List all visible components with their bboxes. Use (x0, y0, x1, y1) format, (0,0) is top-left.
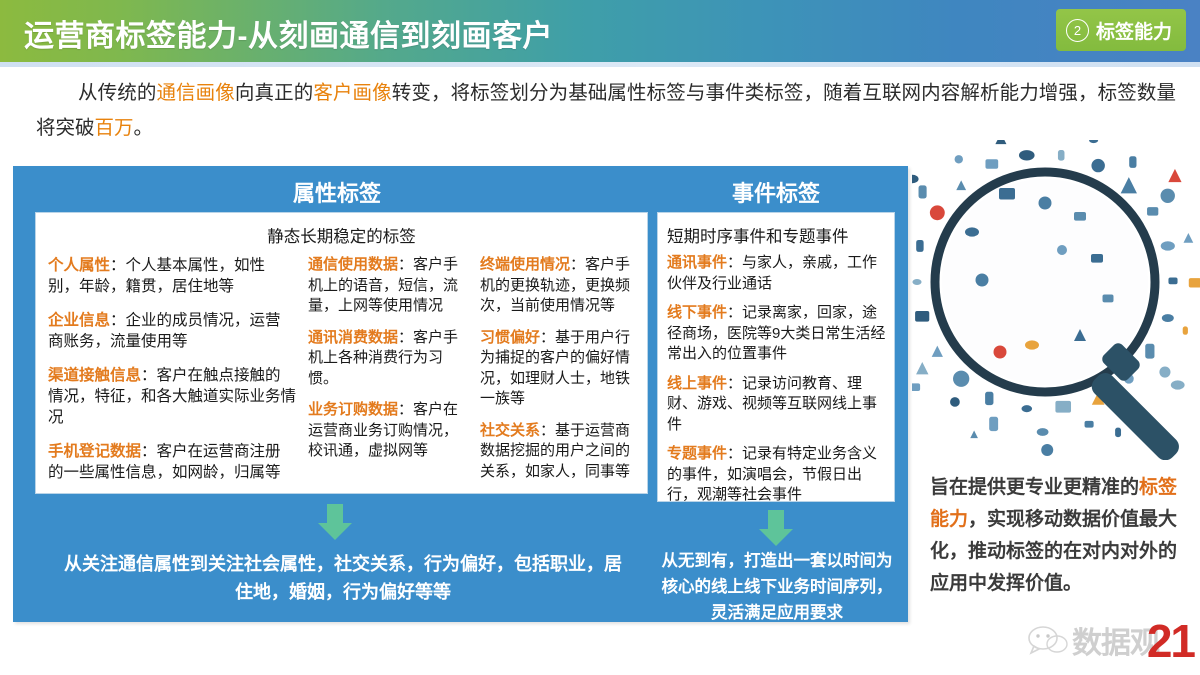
decorative-icon (1183, 326, 1188, 334)
tag-item: 通讯消费数据：客户手机上各种消费行为习惯。 (308, 328, 468, 390)
right-text-2: ，实现移动数据价值最大化，推动标签的在对内对外的应用中发挥价值。 (930, 509, 1177, 594)
intro-highlight-2: 客户画像 (313, 82, 391, 104)
tag-item-term: 通信使用数据 (308, 256, 398, 273)
tag-item-term: 业务订购数据 (308, 401, 398, 418)
attribute-column-1: 个人属性：个人基本属性，如性别，年龄，籍贯，居住地等企业信息：企业的成员情况，运… (36, 255, 302, 493)
tag-item: 习惯偏好：基于用户行为捕捉的客户的偏好情况，如理财人士，地铁一族等 (480, 328, 643, 410)
decorative-icon (1161, 241, 1175, 250)
decorative-icon (1055, 401, 1071, 413)
decorative-icon (953, 371, 969, 387)
decorative-icon (916, 362, 928, 374)
tag-item-term: 个人属性 (48, 257, 110, 274)
right-summary-text: 旨在提供更专业更精准的标签能力，实现移动数据价值最大化，推动标签的在对内对外的应… (930, 472, 1192, 600)
wechat-bubble-icon (1028, 624, 1068, 656)
tag-item-text: 习惯偏好：基于用户行为捕捉的客户的偏好情况，如理财人士，地铁一族等 (480, 328, 643, 410)
tag-item: 个人属性：个人基本属性，如性别，年龄，籍贯，居住地等 (48, 255, 296, 297)
decorative-icon (970, 430, 978, 438)
tag-item: 手机登记数据：客户在运营商注册的一些属性信息，如网龄，归属等 (48, 441, 296, 483)
intro-text-2: 向真正的 (235, 82, 313, 104)
tag-item-term: 习惯偏好 (480, 329, 540, 346)
decorative-icon (1074, 212, 1086, 221)
down-arrow-icon (759, 510, 793, 546)
decorative-icon (916, 240, 923, 252)
attribute-tags-box: 静态长期稳定的标签 个人属性：个人基本属性，如性别，年龄，籍贯，居住地等企业信息… (35, 212, 648, 494)
decorative-icon (915, 311, 929, 322)
attribute-column-2: 通信使用数据：客户手机上的语音，短信，流量，上网等使用情况通讯消费数据：客户手机… (302, 255, 474, 493)
decorative-icon (912, 279, 921, 285)
decorative-icon (995, 140, 1006, 144)
decorative-icon (932, 346, 943, 357)
tag-item-text: 个人属性：个人基本属性，如性别，年龄，籍贯，居住地等 (48, 255, 296, 297)
decorative-icon (1103, 295, 1114, 303)
decorative-icon (989, 417, 998, 431)
decorative-icon (950, 397, 960, 407)
tag-item-term: 通讯事件 (667, 254, 727, 271)
decorative-icon (1161, 189, 1175, 203)
watermark-number: 21 (1147, 614, 1194, 668)
decorative-icon (1037, 428, 1049, 436)
header-underline (0, 62, 1200, 67)
decorative-icon (919, 185, 927, 198)
decorative-icon (1145, 344, 1154, 359)
attribute-tags-heading: 属性标签 (26, 176, 648, 208)
decorative-icon (1162, 314, 1174, 322)
decorative-icon (965, 227, 979, 236)
decorative-icon (985, 392, 993, 405)
decorative-icon (912, 383, 920, 391)
tag-item-term: 终端使用情况 (480, 256, 570, 273)
section-badge-label: 标签能力 (1096, 17, 1172, 44)
event-subtitle: 短期时序事件和专题事件 (658, 213, 894, 247)
tag-item-text: 手机登记数据：客户在运营商注册的一些属性信息，如网龄，归属等 (48, 441, 296, 483)
intro-paragraph: 从传统的通信画像向真正的客户画像转变，将标签划分为基础属性标签与事件类标签，随着… (36, 76, 1176, 146)
tag-item-term: 线上事件 (667, 375, 727, 392)
tag-item: 社交关系：基于运营商数据挖掘的用户之间的关系，如家人，同事等 (480, 421, 643, 483)
decorative-icon (1091, 159, 1104, 172)
tag-item-term: 通讯消费数据 (308, 329, 398, 346)
tag-item: 线下事件：记录离家，回家，途径商场，医院等9大类日常生活经常出入的位置事件 (667, 303, 889, 365)
right-text-1: 旨在提供更专业更精准的 (930, 477, 1139, 498)
event-tags-box: 短期时序事件和专题事件 通讯事件：与家人，亲戚，工作伙伴及行业通话线下事件：记录… (657, 212, 895, 502)
decorative-icon (1147, 207, 1158, 215)
event-conclusion: 从无到有，打造出一套以时间为核心的线上线下业务时间序列，灵活满足应用要求 (659, 548, 895, 626)
intro-text-1: 从传统的 (78, 82, 156, 104)
tag-item-text: 终端使用情况：客户手机的更换轨迹，更换频次，当前使用情况等 (480, 255, 643, 317)
decorative-icon (1115, 428, 1121, 438)
decorative-icon (1091, 254, 1103, 263)
intro-text-4: 。 (134, 117, 154, 139)
decorative-icon (994, 346, 1007, 359)
slide-header: 运营商标签能力-从刻画通信到刻画客户 2 标签能力 (0, 0, 1200, 62)
down-arrow-icon (318, 504, 352, 540)
tag-item-term: 渠道接触信息 (48, 367, 141, 384)
tag-item-text: 通讯消费数据：客户手机上各种消费行为习惯。 (308, 328, 468, 390)
decorative-icon (1121, 177, 1137, 193)
tag-item: 专题事件：记录有特定业务含义的事件，如演唱会，节假日出行，观潮等社会事件 (667, 444, 889, 506)
tag-item-text: 线下事件：记录离家，回家，途径商场，医院等9大类日常生活经常出入的位置事件 (667, 303, 889, 365)
tag-item: 企业信息：企业的成员情况，运营商账务，流量使用等 (48, 310, 296, 352)
tag-item-term: 线下事件 (667, 304, 727, 321)
tag-item: 线上事件：记录访问教育、理财、游戏、视频等互联网线上事件 (667, 374, 889, 436)
main-blue-panel: 属性标签 事件标签 静态长期稳定的标签 个人属性：个人基本属性，如性别，年龄，籍… (13, 166, 908, 622)
decorative-icon (930, 205, 945, 220)
decorative-icon (985, 159, 998, 169)
slide-root: 运营商标签能力-从刻画通信到刻画客户 2 标签能力 从传统的通信画像向真正的客户… (0, 0, 1200, 675)
decorative-icon (1085, 421, 1094, 428)
decorative-icon (1025, 340, 1039, 349)
intro-highlight-3: 百万 (95, 117, 134, 139)
tag-item: 通讯事件：与家人，亲戚，工作伙伴及行业通话 (667, 253, 889, 294)
decorative-icon (1058, 150, 1065, 161)
section-badge: 2 标签能力 (1056, 9, 1186, 51)
tag-item-term: 企业信息 (48, 312, 110, 329)
decorative-icon (1168, 169, 1181, 182)
decorative-icon (1089, 140, 1098, 143)
decorative-icon (956, 180, 966, 190)
decorative-icon (1171, 380, 1185, 389)
attribute-conclusion: 从关注通信属性到关注社会属性，社交关系，行为偏好，包括职业，居住地，婚姻，行为偏… (58, 550, 628, 606)
decorative-icon (1022, 405, 1033, 412)
decorative-icon (1168, 277, 1177, 284)
decorative-icon (976, 274, 989, 287)
tag-item-text: 业务订购数据：客户在运营商业务订购情况，校讯通，虚拟网等 (308, 400, 468, 462)
tag-item: 业务订购数据：客户在运营商业务订购情况，校讯通，虚拟网等 (308, 400, 468, 462)
event-items-list: 通讯事件：与家人，亲戚，工作伙伴及行业通话线下事件：记录离家，回家，途径商场，医… (667, 253, 889, 515)
tag-item-text: 渠道接触信息：客户在触点接触的情况，特征，和各大触道实际业务情况 (48, 365, 296, 428)
magnifier-illustration-svg (912, 140, 1200, 460)
decorative-icon (955, 155, 963, 163)
tag-item-term: 手机登记数据 (48, 443, 141, 460)
decorative-icon (1129, 156, 1136, 168)
event-tags-heading: 事件标签 (657, 176, 895, 208)
watermark: 数据观 21 (1028, 612, 1200, 668)
tag-item: 终端使用情况：客户手机的更换轨迹，更换频次，当前使用情况等 (480, 255, 643, 317)
tag-item-term: 社交关系 (480, 422, 540, 439)
tag-item-text: 通信使用数据：客户手机上的语音，短信，流量，上网等使用情况 (308, 255, 468, 317)
tag-item: 通信使用数据：客户手机上的语音，短信，流量，上网等使用情况 (308, 255, 468, 317)
attribute-subtitle: 静态长期稳定的标签 (36, 213, 647, 247)
intro-highlight-1: 通信画像 (156, 82, 234, 104)
decorative-icon (912, 175, 919, 183)
tag-item-text: 社交关系：基于运营商数据挖掘的用户之间的关系，如家人，同事等 (480, 421, 643, 483)
tag-item-text: 企业信息：企业的成员情况，运营商账务，流量使用等 (48, 310, 296, 352)
decorative-icon (999, 188, 1015, 200)
decorative-icon (1019, 150, 1035, 160)
decorative-icon (1057, 245, 1067, 255)
decorative-icon (1184, 233, 1194, 243)
page-title: 运营商标签能力-从刻画通信到刻画客户 (24, 11, 553, 55)
attribute-columns: 个人属性：个人基本属性，如性别，年龄，籍贯，居住地等企业信息：企业的成员情况，运… (36, 255, 649, 493)
attribute-column-3: 终端使用情况：客户手机的更换轨迹，更换频次，当前使用情况等习惯偏好：基于用户行为… (474, 255, 649, 493)
decorative-icon (1159, 367, 1170, 378)
magnifying-glass-icon (912, 140, 1200, 460)
tag-item-term: 专题事件 (667, 445, 727, 462)
decorative-icon (1189, 278, 1200, 287)
decorative-icon (1039, 197, 1052, 210)
tag-item-text: 专题事件：记录有特定业务含义的事件，如演唱会，节假日出行，观潮等社会事件 (667, 444, 889, 506)
decorative-icon (1041, 444, 1053, 456)
tag-item-text: 通讯事件：与家人，亲戚，工作伙伴及行业通话 (667, 253, 889, 294)
tag-item: 渠道接触信息：客户在触点接触的情况，特征，和各大触道实际业务情况 (48, 365, 296, 428)
section-number: 2 (1066, 19, 1089, 42)
tag-item-text: 线上事件：记录访问教育、理财、游戏、视频等互联网线上事件 (667, 374, 889, 436)
